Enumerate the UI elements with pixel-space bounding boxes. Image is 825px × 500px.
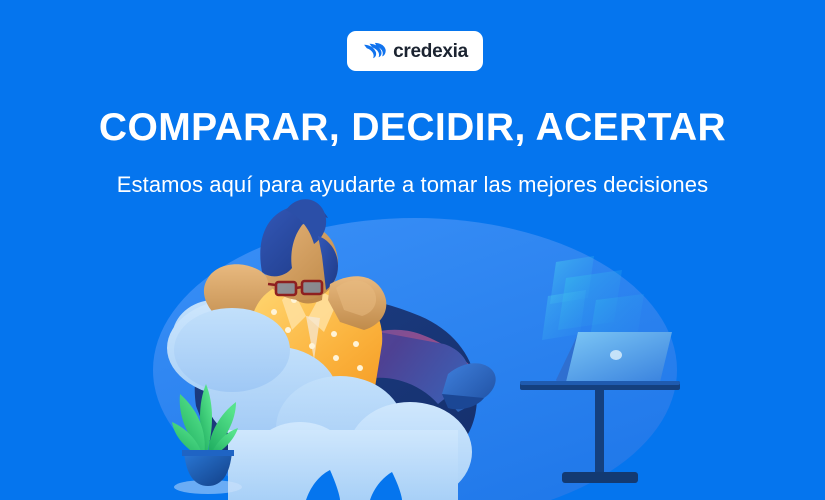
- brand-logo-card[interactable]: credexia: [347, 31, 483, 71]
- brand-name: credexia: [393, 42, 468, 61]
- hero-headline: COMPARAR, DECIDIR, ACERTAR: [0, 106, 825, 150]
- hero-subheadline: Estamos aquí para ayudarte a tomar las m…: [0, 172, 825, 198]
- hero-banner: credexia COMPARAR, DECIDIR, ACERTAR Esta…: [0, 0, 825, 500]
- relaxing-person-illustration: [0, 0, 825, 500]
- eyeglasses: [268, 281, 322, 295]
- credexia-swoosh-icon: [362, 42, 386, 60]
